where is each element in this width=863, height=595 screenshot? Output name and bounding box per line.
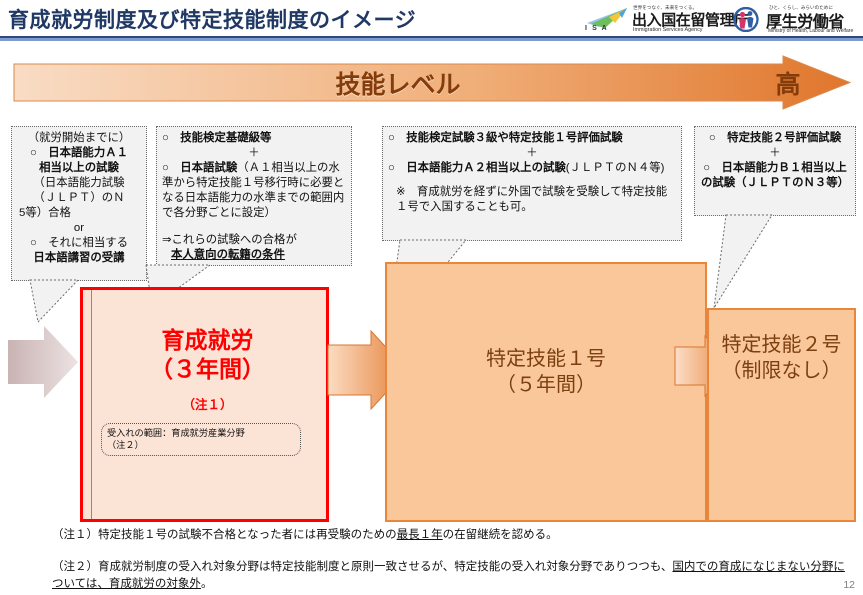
tokutei1-title: 特定技能１号 （５年間） [387, 346, 705, 399]
callout1-line-8: 日本語講習の受講 [17, 251, 141, 266]
callout-ssw2-requirements: ○ 特定技能２号評価試験 ＋ ○ 日本語能力Ｂ１相当以上の試験（ＪＬＰＴのＮ３等… [694, 126, 856, 216]
callout3-line2: ○ 日本語能力Ａ２相当以上の試験(ＪＬＰＴのＮ４等) [388, 161, 676, 176]
callout4-line1: ○ 特定技能２号評価試験 [700, 131, 850, 146]
callout1-line-4: （ＪＬＰＴ）のＮ [17, 191, 141, 206]
callout3-line1: ○ 技能検定試験３級や特定技能１号評価試験 [388, 131, 676, 146]
ikusei-note: （注１） [83, 394, 332, 413]
isa-acronym: I S A [585, 25, 608, 32]
footnote2-prefix: （注２）育成就労制度の受入れ対象分野は特定技能制度と原則一致させるが、特定技能の… [52, 561, 672, 573]
block-tokutei-ginou-2: 特定技能２号 （制限なし） [707, 308, 856, 522]
footnote1-prefix: （注１）特定技能１号の試験不合格となった者には再受験のための [52, 529, 397, 541]
callout-pre-employment: （就労開始までに） ○ 日本語能力Ａ１ 相当以上の試験 （日本語能力試験 （ＪＬ… [11, 126, 147, 281]
footnote-2: （注２）育成就労制度の受入れ対象分野は特定技能制度と原則一致させるが、特定技能の… [52, 559, 852, 594]
ikusei-title-line1: 育成就労 [83, 326, 332, 355]
callout1-line-7: ○ それに相当する [17, 236, 141, 251]
footnote2-suffix: 。 [201, 578, 213, 590]
isa-name-en: Immigration Services Agency [633, 27, 703, 33]
footnote1-suffix: の在留継続を認める。 [443, 529, 558, 541]
mhlw-people-icon [733, 7, 759, 32]
callout1-line-6: or [17, 221, 141, 236]
callout4-plus: ＋ [700, 146, 850, 161]
banner-arrow-shape [13, 55, 851, 110]
tokutei2-title-line1: 特定技能２号 [709, 332, 854, 358]
callout2-plus: ＋ [162, 146, 346, 161]
callout3-spacer [388, 176, 676, 185]
footnote-1: （注１）特定技能１号の試験不合格となった者には再受験のための最長１年の在留継続を… [52, 527, 852, 544]
footnote2-underlined1: 国内での [672, 561, 718, 573]
tokutei1-title-line2: （５年間） [387, 372, 705, 398]
callout2-line2-head: ○ 日本語試験 [162, 162, 237, 174]
callout2-line2: ○ 日本語試験（Ａ１相当以上の水準から特定技能１号移行時に必要となる日本語能力の… [162, 161, 346, 221]
callout2-line4: 本人意向の転籍の条件 [162, 248, 346, 263]
callout3-note: ※ 育成就労を経ずに外国で試験を受験して特定技能１号で入国することも可。 [388, 185, 676, 215]
callout-ssw2-tail [700, 213, 780, 313]
callout2-line3: ⇒これらの試験への合格が [162, 233, 346, 248]
callout-ssw1-requirements: ○ 技能検定試験３級や特定技能１号評価試験 ＋ ○ 日本語能力Ａ２相当以上の試験… [382, 126, 682, 241]
header-divider [0, 36, 863, 41]
page-title: 育成就労制度及び特定技能制度のイメージ [8, 4, 416, 34]
callout1-line-2: 相当以上の試験 [17, 161, 141, 176]
ikusei-title-line2: （３年間） [83, 355, 332, 384]
ikusei-scope-line2: （注２） [107, 439, 295, 451]
tokutei1-title-line1: 特定技能１号 [387, 346, 705, 372]
mhlw-logo: ひと、くらし、みらいのために 厚生労働省 Ministry of Health,… [733, 4, 861, 35]
footnote1-underlined: 最長１年 [397, 529, 443, 541]
callout3-plus: ＋ [388, 146, 676, 161]
callout3-line2-head: ○ 日本語能力Ａ２相当以上の試験 [388, 162, 566, 174]
isa-logo: I S A 世界をつなぐ、未来をつくる。 出入国在留管理庁 Immigratio… [583, 4, 725, 35]
callout2-line1: ○ 技能検定基礎級等 [162, 131, 346, 146]
block-tokutei-ginou-1: 特定技能１号 （５年間） [385, 262, 707, 522]
callout1-line-5: 5等）合格 [17, 206, 141, 221]
block-ikusei-shuro: 育成就労 （３年間） （注１） 受入れの範囲：育成就労産業分野 （注２） [80, 287, 329, 522]
callout3-line2-rest: (ＪＬＰＴのＮ４等) [566, 162, 665, 174]
ikusei-scope-line1: 受入れの範囲：育成就労産業分野 [107, 427, 295, 439]
mhlw-name-en: Ministry of Health, Labour and Welfare [768, 28, 853, 34]
callout4-line2: ○ 日本語能力Ｂ１相当以上の試験（ＪＬＰＴのＮ３等） [700, 161, 850, 191]
tokutei2-title-line2: （制限なし） [709, 358, 854, 384]
callout1-line-5-text: 5等）合格 [19, 207, 71, 219]
callout1-line-0: （就労開始までに） [17, 131, 141, 146]
slide-canvas: 育成就労制度及び特定技能制度のイメージ I S A 世界をつなぐ、未来をつくる。… [0, 0, 863, 595]
page-number: 12 [843, 579, 855, 591]
ikusei-scope-box: 受入れの範囲：育成就労産業分野 （注２） [101, 423, 301, 456]
ikusei-title: 育成就労 （３年間） [83, 326, 332, 384]
entry-arrow [4, 322, 84, 422]
callout2-spacer [162, 221, 346, 233]
tokutei2-title: 特定技能２号 （制限なし） [709, 332, 854, 385]
callout1-line-3: （日本語能力試験 [17, 176, 141, 191]
skill-level-banner: 技能レベル 高 [13, 55, 851, 110]
callout1-line-1: ○ 日本語能力Ａ１ [17, 146, 141, 161]
callout-transfer-conditions: ○ 技能検定基礎級等 ＋ ○ 日本語試験（Ａ１相当以上の水準から特定技能１号移行… [156, 126, 352, 266]
